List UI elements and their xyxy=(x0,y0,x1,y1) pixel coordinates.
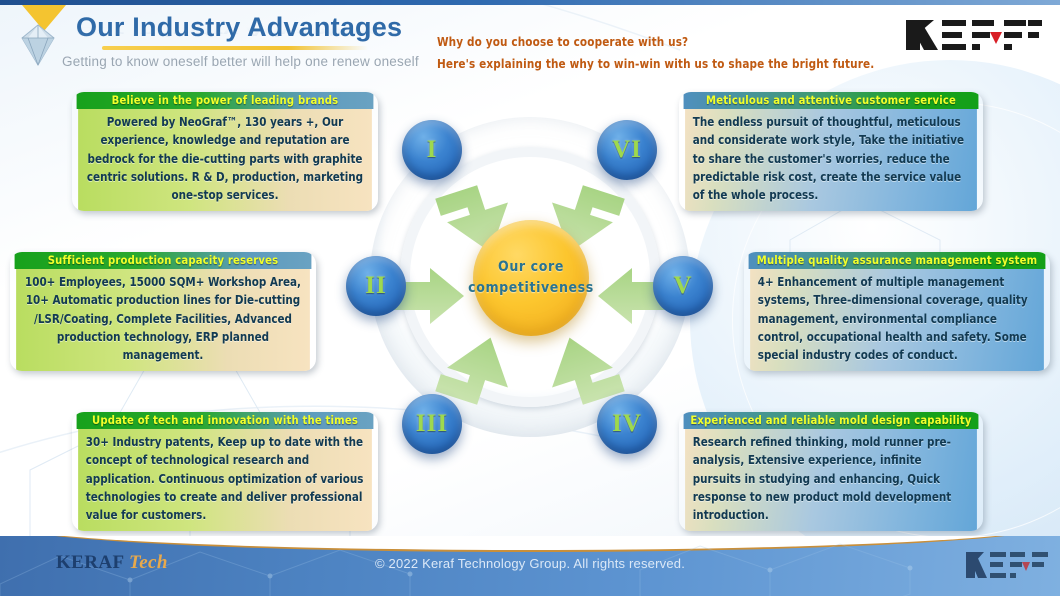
card-heading: Multiple quality assurance management sy… xyxy=(749,252,1046,269)
diagram-node-3[interactable]: III xyxy=(402,394,462,454)
advantage-card-quality-assurance[interactable]: Multiple quality assurance management sy… xyxy=(744,252,1050,371)
diagram-node-5[interactable]: V xyxy=(653,256,713,316)
footer-copyright: © 2022 Keraf Technology Group. All right… xyxy=(0,556,1060,571)
diagram-node-6[interactable]: VI xyxy=(597,120,657,180)
page-subtitle: Getting to know oneself better will help… xyxy=(62,54,419,69)
node-label: VI xyxy=(612,136,642,164)
advantage-card-customer-service[interactable]: Meticulous and attentive customer servic… xyxy=(679,92,983,211)
advantage-card-leading-brands[interactable]: Believe in the power of leading brands P… xyxy=(72,92,378,211)
core-competitiveness-diagram: Our core competitiveness I II III IV V V… xyxy=(352,104,708,494)
keraf-logo xyxy=(904,18,1044,52)
card-body: 30+ Industry patents, Keep up to date wi… xyxy=(78,429,372,531)
keraf-logo-small xyxy=(964,550,1052,580)
intro-line-2: Here's explaining the why to win-win wit… xyxy=(437,53,837,75)
slide: Our Industry Advantages Our Industry Adv… xyxy=(0,0,1060,596)
diamond-icon xyxy=(14,22,62,68)
top-accent-bar xyxy=(0,0,1060,5)
page-header: Our Industry Advantages Our Industry Adv… xyxy=(0,6,1060,80)
title-underline xyxy=(102,46,368,50)
card-body: Powered by NeoGraf™, 130 years +, Our ex… xyxy=(78,109,372,211)
node-label: IV xyxy=(612,410,642,438)
page-footer: KERAF Tech © 2022 Keraf Technology Group… xyxy=(0,536,1060,596)
node-label: V xyxy=(673,272,692,300)
node-label: III xyxy=(416,410,448,438)
node-label: I xyxy=(427,136,438,164)
intro-text: Why do you choose to cooperate with us? … xyxy=(437,31,867,75)
card-heading: Update of tech and innovation with the t… xyxy=(77,412,374,429)
card-body: Research refined thinking, mold runner p… xyxy=(685,429,977,531)
advantage-card-mold-design[interactable]: Experienced and reliable mold design cap… xyxy=(679,412,983,531)
card-heading: Believe in the power of leading brands xyxy=(77,92,374,109)
card-heading: Experienced and reliable mold design cap… xyxy=(684,412,979,429)
core-circle: Our core competitiveness xyxy=(473,220,589,336)
advantage-card-production-capacity[interactable]: Sufficient production capacity reserves … xyxy=(10,252,316,371)
core-line-2: competitiveness xyxy=(468,278,594,299)
node-label: II xyxy=(365,272,386,300)
card-body: 4+ Enhancement of multiple management sy… xyxy=(750,269,1044,371)
core-line-1: Our core xyxy=(498,257,564,278)
diagram-node-1[interactable]: I xyxy=(402,120,462,180)
card-heading: Sufficient production capacity reserves xyxy=(15,252,312,269)
card-body: 100+ Employees, 15000 SQM+ Workshop Area… xyxy=(16,269,310,371)
intro-line-1: Why do you choose to cooperate with us? xyxy=(437,31,837,53)
diagram-node-2[interactable]: II xyxy=(346,256,406,316)
diagram-node-4[interactable]: IV xyxy=(597,394,657,454)
advantage-card-tech-innovation[interactable]: Update of tech and innovation with the t… xyxy=(72,412,378,531)
page-title-reflection: Our Industry Advantages xyxy=(76,22,402,39)
card-body: The endless pursuit of thoughtful, metic… xyxy=(685,109,977,211)
card-heading: Meticulous and attentive customer servic… xyxy=(684,92,979,109)
